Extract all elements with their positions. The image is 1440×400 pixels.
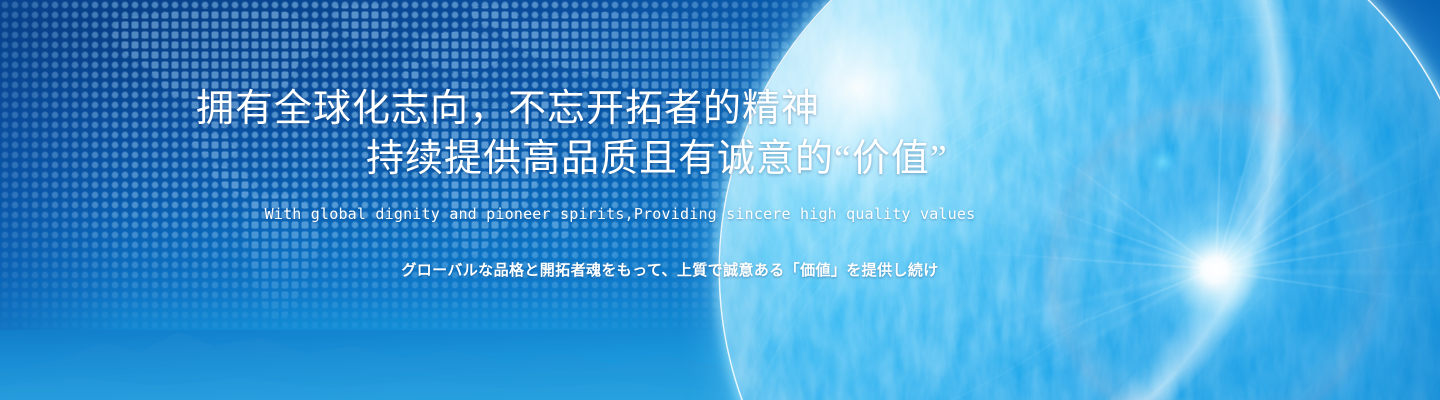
headline-line-2: 持续提供高品质且有诚意的“价值” bbox=[0, 134, 1060, 184]
banner-subtitle-english: With global dignity and pioneer spirits,… bbox=[0, 205, 1240, 223]
hero-banner: 拥有全球化志向，不忘开拓者的精神 持续提供高品质且有诚意的“价值” With g… bbox=[0, 0, 1440, 400]
banner-subtitle-japanese: グローバルな品格と開拓者魂をもって、上質で誠意ある「価値」を提供し続け bbox=[0, 259, 1340, 280]
banner-copy-block: 拥有全球化志向，不忘开拓者的精神 持续提供高品质且有诚意的“价值” With g… bbox=[0, 0, 1060, 400]
headline-line-1: 拥有全球化志向，不忘开拓者的精神 bbox=[0, 84, 1060, 134]
lens-flare-dot bbox=[1150, 149, 1176, 175]
banner-headline: 拥有全球化志向，不忘开拓者的精神 持续提供高品质且有诚意的“价值” bbox=[0, 84, 1060, 184]
